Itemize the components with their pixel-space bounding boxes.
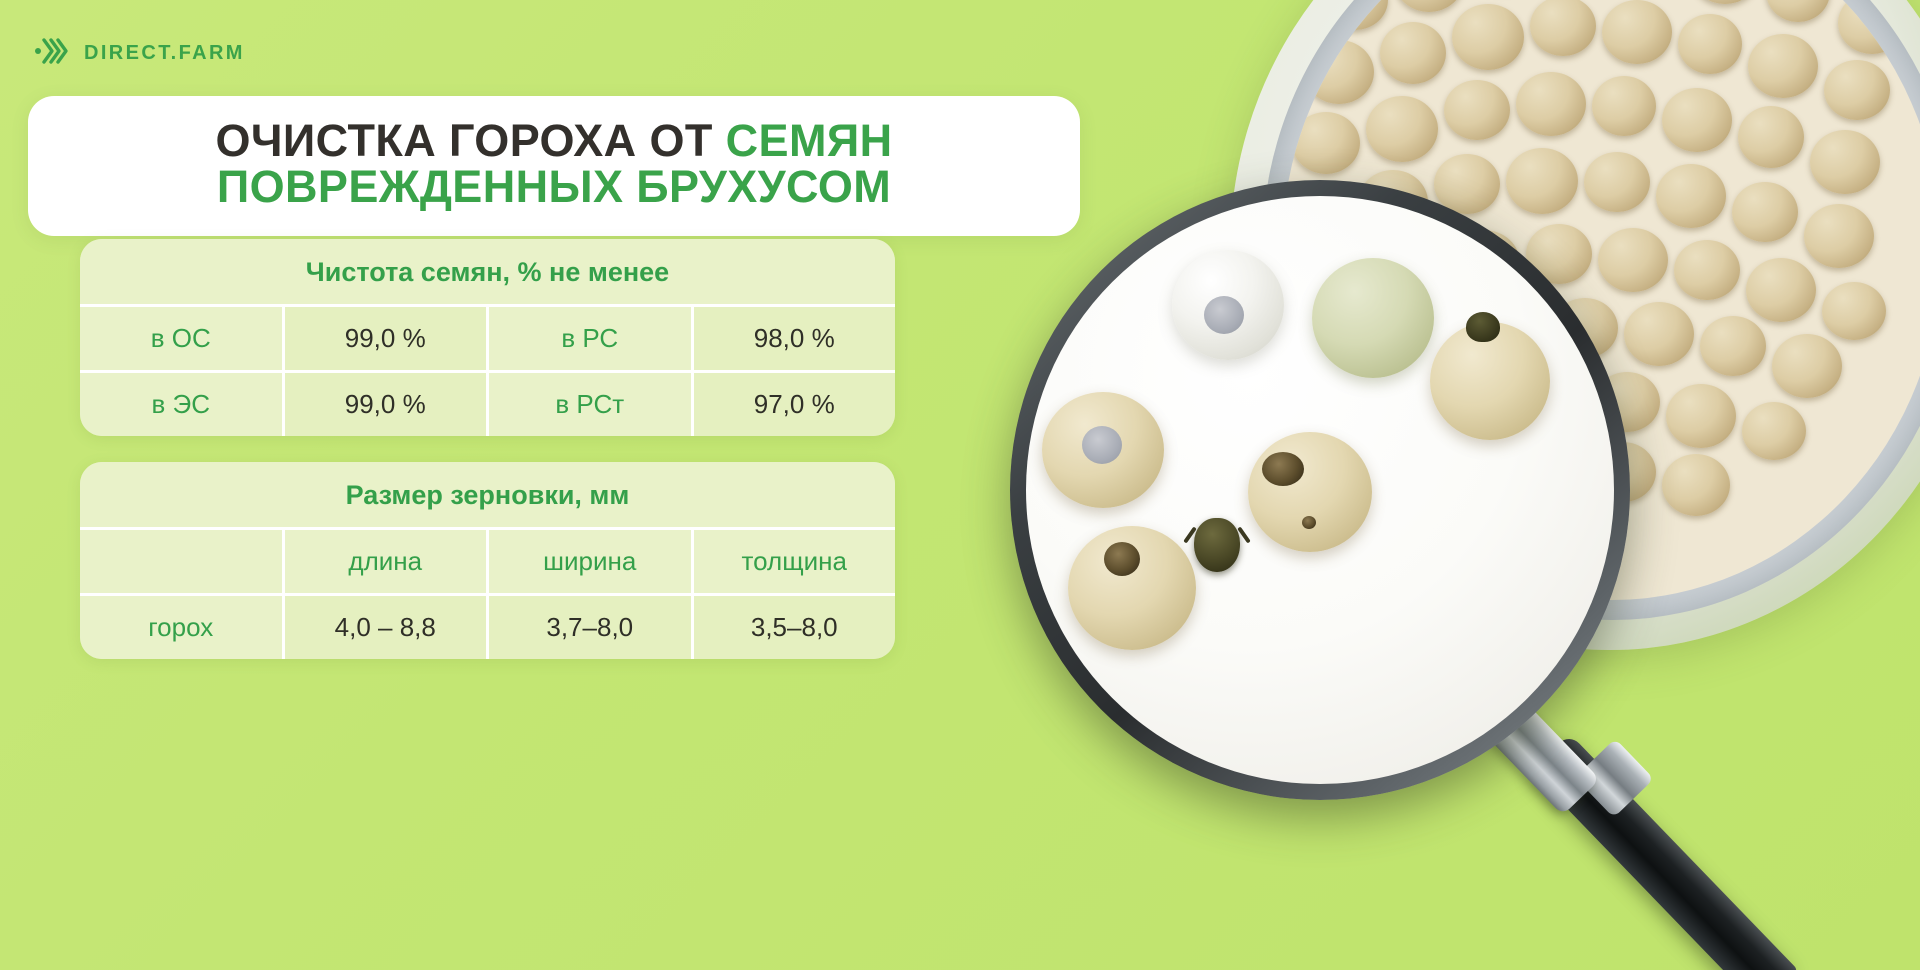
purity-table: Чистота семян, % не менее в ОС 99,0 % в … xyxy=(80,239,895,436)
purity-label-rst: в РСт xyxy=(486,373,691,436)
brand-logo[interactable]: DIRECT.FARM xyxy=(34,36,245,71)
size-crop-name: горох xyxy=(80,596,282,659)
magnifier-lens xyxy=(1026,196,1614,784)
size-col-blank xyxy=(80,530,282,593)
brand-name: DIRECT.FARM xyxy=(84,42,245,65)
purity-label-rs: в РС xyxy=(486,307,691,370)
purity-table-heading: Чистота семян, % не менее xyxy=(80,239,895,304)
size-value-length: 4,0 – 8,8 xyxy=(282,596,487,659)
table-row: горох 4,0 – 8,8 3,7–8,0 3,5–8,0 xyxy=(80,593,895,659)
title-plain: ОЧИСТКА ГОРОХА ОТ xyxy=(216,115,726,166)
title-accent-1: СЕМЯН xyxy=(726,115,893,166)
size-value-thickness: 3,5–8,0 xyxy=(691,596,896,659)
purity-value-es: 99,0 % xyxy=(282,373,487,436)
title-card: ОЧИСТКА ГОРОХА ОТ СЕМЯН ПОВРЕЖДЕННЫХ БРУ… xyxy=(28,96,1080,236)
purity-label-os: в ОС xyxy=(80,307,282,370)
purity-value-rst: 97,0 % xyxy=(691,373,896,436)
title-line-2: ПОВРЕЖДЕННЫХ БРУХУСОМ xyxy=(58,164,1050,210)
table-row: в ЭС 99,0 % в РСт 97,0 % xyxy=(80,370,895,436)
purity-value-os: 99,0 % xyxy=(282,307,487,370)
chevron-stack-icon xyxy=(34,36,72,71)
size-value-width: 3,7–8,0 xyxy=(486,596,691,659)
infographic-canvas: DIRECT.FARM ОЧИСТКА ГОРОХА ОТ СЕМЯН ПОВР… xyxy=(0,0,1920,970)
title-line-1: ОЧИСТКА ГОРОХА ОТ СЕМЯН xyxy=(58,118,1050,164)
table-row: в ОС 99,0 % в РС 98,0 % xyxy=(80,304,895,370)
purity-value-rs: 98,0 % xyxy=(691,307,896,370)
magnifier-ring xyxy=(1010,180,1630,800)
bruchus-beetle-icon xyxy=(1194,518,1240,572)
purity-label-es: в ЭС xyxy=(80,373,282,436)
size-table: Размер зерновки, мм длина ширина толщина… xyxy=(80,462,895,659)
size-col-length: длина xyxy=(282,530,487,593)
size-col-thickness: толщина xyxy=(691,530,896,593)
size-col-width: ширина xyxy=(486,530,691,593)
magnifier-icon xyxy=(1010,180,1910,970)
size-table-heading: Размер зерновки, мм xyxy=(80,462,895,527)
table-header-row: длина ширина толщина xyxy=(80,527,895,593)
